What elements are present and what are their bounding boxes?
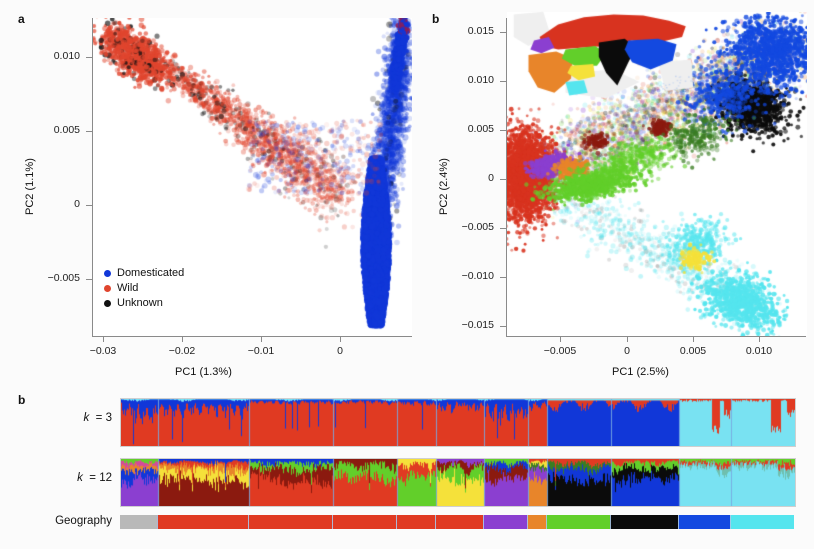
panel-b-xtick-label-0: −0.005 (530, 345, 590, 357)
panel-b-y-axis-title: PC2 (2.4%) (438, 158, 450, 215)
legend-dot-unknown (104, 300, 111, 307)
admixture-bar-k12[interactable] (120, 458, 796, 507)
panel-b-ytick-1 (500, 81, 506, 82)
geography-separator-2 (332, 515, 333, 529)
panel-a: a PC2 (1.1%) 0.010 0.005 0 −0.005 −0.03 … (0, 0, 420, 390)
inset-map-eurasia (510, 10, 695, 100)
panel-a-xtick-label-2: −0.01 (231, 345, 291, 357)
panel-b-ytick-4 (500, 228, 506, 229)
panel-b-ytick-label-5: −0.010 (434, 270, 494, 282)
geography-separator-7 (546, 515, 547, 529)
panel-b-xtick-1 (627, 336, 628, 342)
panel-a-letter: a (18, 12, 25, 26)
panel-b-ytick-0 (500, 32, 506, 33)
panel-a-xtick-label-0: −0.03 (73, 345, 133, 357)
geography-segment-southeast-asia (730, 515, 794, 529)
panel-a-x-axis-title: PC1 (1.3%) (175, 366, 232, 378)
legend-dot-domesticated (104, 270, 111, 277)
geography-segment-africa (527, 515, 546, 529)
geography-bar[interactable] (120, 515, 794, 529)
panel-a-ytick-label-0: 0.010 (20, 50, 80, 62)
geography-row-label: Geography (14, 515, 112, 527)
panel-b-ytick-label-3: 0 (434, 172, 494, 184)
panel-b-ytick-label-4: −0.005 (434, 221, 494, 233)
panel-b-letter: b (432, 12, 439, 26)
geography-separator-4 (435, 515, 436, 529)
panel-a-xtick-2 (261, 336, 262, 342)
panel-a-xtick-1 (182, 336, 183, 342)
legend-label-unknown: Unknown (117, 298, 163, 309)
panel-b: b PC2 (2.4%) 0.015 0.010 0.005 0 −0.005 … (420, 0, 814, 390)
panel-a-x-axis-line (92, 336, 412, 337)
panel-a-ytick-3 (86, 279, 92, 280)
legend-item-domesticated[interactable]: Domesticated (104, 266, 184, 281)
k-equals-k3: = (92, 412, 105, 424)
admix-row-label-k3: k = 3 (30, 412, 112, 424)
panel-a-xtick-label-3: 0 (310, 345, 370, 357)
legend-label-wild: Wild (117, 283, 138, 294)
panel-a-ytick-label-1: 0.005 (20, 124, 80, 136)
k-symbol-k3: k (84, 412, 90, 424)
k-symbol-k12: k (77, 472, 83, 484)
admixture-bar-k3[interactable] (120, 398, 796, 447)
geography-separator-10 (730, 515, 731, 529)
legend-dot-wild (104, 285, 111, 292)
panel-a-ytick-2 (86, 205, 92, 206)
geography-separator-9 (678, 515, 679, 529)
admixture-k12-canvas (121, 459, 795, 506)
panel-a-xtick-label-1: −0.02 (152, 345, 212, 357)
inset-map-canvas (510, 10, 695, 100)
panel-b-ytick-label-6: −0.015 (434, 319, 494, 331)
panel-b-ytick-3 (500, 179, 506, 180)
panel-b-x-axis-title: PC1 (2.5%) (612, 366, 669, 378)
geography-segment-east-asia (678, 515, 730, 529)
panel-b-ytick-label-2: 0.005 (434, 123, 494, 135)
panel-b-xtick-label-3: 0.010 (729, 345, 789, 357)
panel-c-letter: b (18, 393, 25, 407)
panel-a-ytick-label-2: 0 (20, 198, 80, 210)
panel-a-xtick-3 (340, 336, 341, 342)
k-equals-k12: = (86, 472, 99, 484)
geography-separator-3 (396, 515, 397, 529)
k-value-k12: 12 (99, 472, 112, 484)
geography-separator-8 (610, 515, 611, 529)
geography-segment-europe (157, 515, 483, 529)
geography-separator-1 (248, 515, 249, 529)
geography-separator-0 (157, 515, 158, 529)
panel-a-legend: Domesticated Wild Unknown (104, 266, 184, 311)
panel-b-xtick-0 (560, 336, 561, 342)
legend-label-domesticated: Domesticated (117, 268, 184, 279)
panel-a-ytick-label-3: −0.005 (20, 272, 80, 284)
panel-b-xtick-label-1: 0 (597, 345, 657, 357)
panel-b-xtick-2 (693, 336, 694, 342)
panel-a-ytick-1 (86, 131, 92, 132)
geography-segment-south-asia (610, 515, 678, 529)
admix-row-label-k12: k = 12 (30, 472, 112, 484)
panel-b-ytick-6 (500, 326, 506, 327)
geography-segment-west-europe (483, 515, 527, 529)
panel-b-xtick-label-2: 0.005 (663, 345, 723, 357)
geography-separator-6 (527, 515, 528, 529)
figure-root: a PC2 (1.1%) 0.010 0.005 0 −0.005 −0.03 … (0, 0, 814, 549)
panel-b-ytick-5 (500, 277, 506, 278)
geography-separator-5 (483, 515, 484, 529)
panel-b-x-axis-line (506, 336, 806, 337)
panel-b-ytick-2 (500, 130, 506, 131)
geography-segment-unassigned (120, 515, 157, 529)
panel-b-ytick-label-0: 0.015 (434, 25, 494, 37)
admixture-k3-canvas (121, 399, 795, 446)
panel-b-xtick-3 (759, 336, 760, 342)
panel-c-admixture: b k = 3 k = 12 Geography (0, 385, 814, 549)
panel-a-ytick-0 (86, 57, 92, 58)
legend-item-unknown[interactable]: Unknown (104, 296, 184, 311)
k-value-k3: 3 (106, 412, 112, 424)
panel-a-xtick-0 (103, 336, 104, 342)
legend-item-wild[interactable]: Wild (104, 281, 184, 296)
geography-segment-middle-east (546, 515, 610, 529)
panel-b-ytick-label-1: 0.010 (434, 74, 494, 86)
